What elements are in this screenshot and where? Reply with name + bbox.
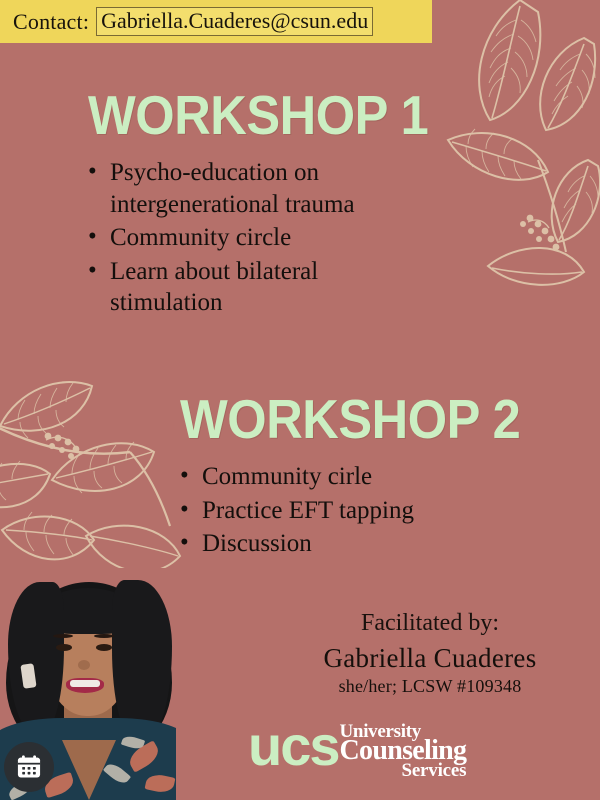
list-item: Discussion <box>180 528 532 560</box>
calendar-icon[interactable] <box>4 742 54 792</box>
contact-email-box[interactable]: Gabriella.Cuaderes@csun.edu <box>96 7 373 36</box>
contact-email: Gabriella.Cuaderes@csun.edu <box>101 8 368 33</box>
list-item: Community circle <box>88 222 410 254</box>
contact-banner: Contact: Gabriella.Cuaderes@csun.edu <box>0 0 432 43</box>
list-item: Practice EFT tapping <box>180 495 532 527</box>
list-item: Community cirle <box>180 461 532 493</box>
workshop-1-bullet-list: Psycho-education on intergenerational tr… <box>88 157 458 319</box>
workshop-2-block: WORKSHOP 2 Community cirle Practice EFT … <box>180 392 550 562</box>
workshop-2-bullet-list: Community cirle Practice EFT tapping Dis… <box>180 461 550 560</box>
ucs-logo-wordmark: University Counseling Services <box>340 724 467 778</box>
workshop-1-heading: WORKSHOP 1 <box>88 88 428 143</box>
list-item: Psycho-education on intergenerational tr… <box>88 157 410 220</box>
facilitator-name: Gabriella Cuaderes <box>300 643 560 674</box>
workshop-1-block: WORKSHOP 1 Psycho-education on intergene… <box>88 88 458 321</box>
ucs-logo: ucs University Counseling Services <box>248 722 466 778</box>
facilitator-credentials: she/her; LCSW #109348 <box>300 676 560 697</box>
facilitator-block: Facilitated by: Gabriella Cuaderes she/h… <box>300 610 560 697</box>
poster-canvas: Contact: Gabriella.Cuaderes@csun.edu WOR… <box>0 0 600 800</box>
contact-label: Contact: <box>13 9 89 35</box>
list-item: Learn about bilateral stimulation <box>88 256 410 319</box>
facilitated-by-label: Facilitated by: <box>300 610 560 637</box>
ucs-logo-mark: ucs <box>248 722 339 770</box>
workshop-2-heading: WORKSHOP 2 <box>180 392 520 447</box>
